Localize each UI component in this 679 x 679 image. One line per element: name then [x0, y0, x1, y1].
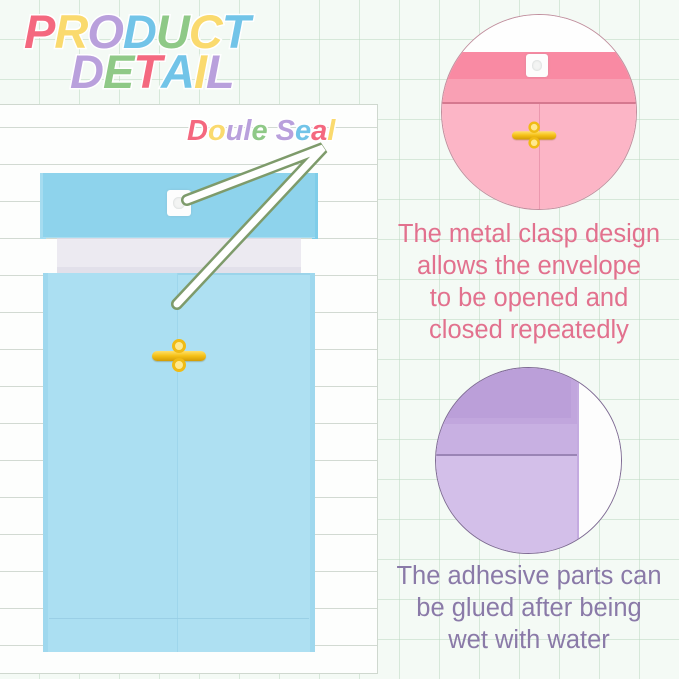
title-letter-5: I [194, 48, 206, 95]
title-letter-2: o [208, 117, 226, 146]
adhesive-flap-closeup-circle [435, 367, 622, 554]
envelope-body-right-edge [310, 273, 315, 652]
page-title: PRODUCT DETAIL [22, 2, 362, 102]
pink-metal-clasp-icon [512, 119, 556, 152]
title-letter-10: l [327, 117, 335, 146]
title-letter-6: L [206, 48, 234, 95]
title-letter-4: A [161, 48, 194, 95]
title-letter-3: u [226, 117, 244, 146]
metal-clasp-closeup-circle [441, 14, 637, 210]
title-letter-5: e [251, 117, 267, 146]
caption-line-1: The metal clasp design [381, 218, 677, 250]
clasp-prong-upper [172, 339, 186, 353]
purple-envelope-flap-inner [436, 368, 571, 418]
caption-metal-clasp: The metal clasp designallows the envelop… [381, 218, 677, 347]
purple-envelope-flap-lip [436, 424, 585, 456]
caption-line-4: closed repeatedly [381, 314, 677, 346]
title-letter-1: D [70, 48, 103, 95]
caption-line-3: wet with water [381, 624, 677, 656]
title-letter-8: e [295, 117, 311, 146]
title-letter-3: T [133, 48, 161, 95]
pink-envelope-label-square [526, 54, 548, 77]
envelope-body [43, 273, 315, 652]
metal-clasp-icon [152, 336, 206, 376]
title-letter-9: a [311, 117, 327, 146]
caption-line-1: The adhesive parts can [381, 560, 677, 592]
title-letter-7: S [276, 117, 295, 146]
doule-seal-label: Doule Seal [187, 117, 335, 146]
title-letter-1: D [187, 117, 208, 146]
purple-envelope-body [436, 456, 579, 554]
envelope-bottom-fold-line [49, 618, 309, 619]
title-letter-1: P [24, 8, 54, 55]
clasp-prong-lower [528, 137, 539, 148]
pink-envelope-flap-lip [442, 79, 636, 103]
page-title-line-2: DETAIL [70, 48, 234, 95]
clasp-prong-lower [172, 358, 186, 372]
pink-envelope-top-white [442, 15, 636, 52]
envelope-body-left-edge [43, 273, 48, 652]
callout-arrow-icon [175, 132, 335, 307]
purple-closeup-background [579, 368, 622, 554]
caption-line-2: be glued after being [381, 592, 677, 624]
title-letter-6 [268, 117, 276, 146]
caption-line-2: allows the envelope [381, 250, 677, 282]
infographic-canvas: Doule Seal PRODUCT DETAIL The metal clas… [0, 0, 679, 679]
envelope-body-left-panel [43, 273, 178, 652]
caption-adhesive-parts: The adhesive parts canbe glued after bei… [381, 560, 677, 656]
caption-line-3: to be opened and [381, 282, 677, 314]
title-letter-2: E [103, 48, 133, 95]
clasp-prong-upper [528, 121, 539, 132]
